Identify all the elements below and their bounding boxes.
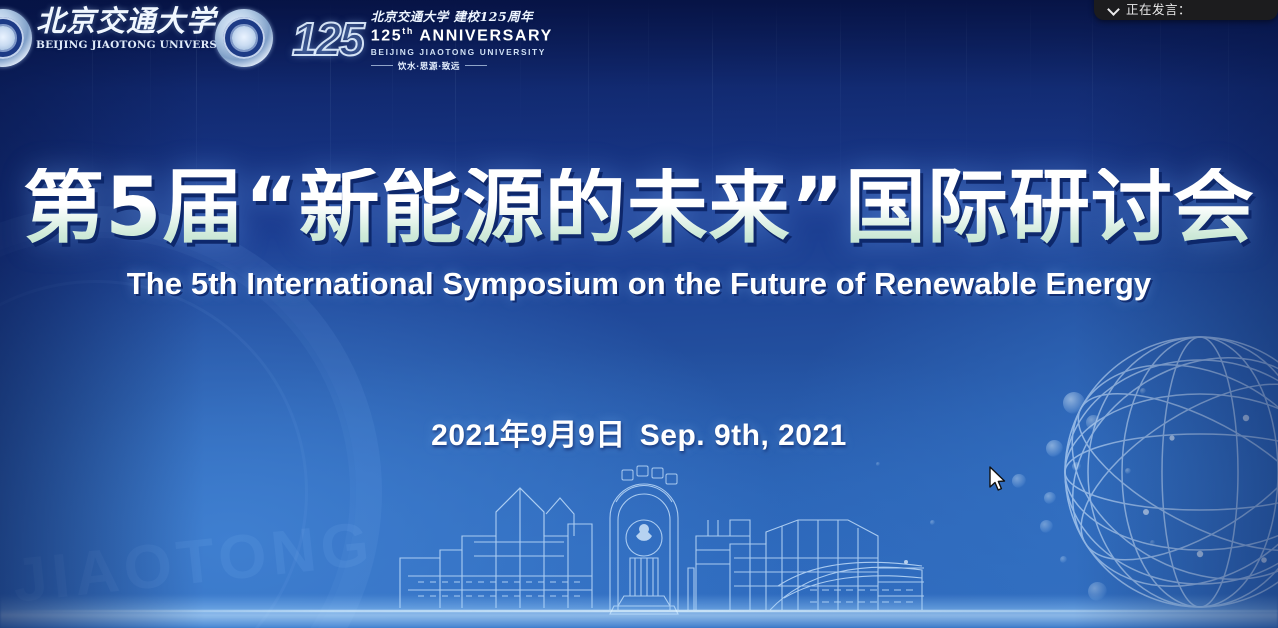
screen-share-stage: JIAOTONG: [0, 0, 1278, 628]
active-speaker-bar[interactable]: 正在发言：: [1094, 0, 1278, 20]
anniversary-numeral: 125: [292, 16, 363, 62]
header-branding: 北京交通大学 BEIJING JIAOTONG UNIVERSITY 125 北…: [0, 0, 560, 78]
page-title: 第5届“新能源的未来”国际研讨会: [0, 168, 1278, 249]
anniversary-en-secondary: BEIJING JIAOTONG UNIVERSITY: [371, 47, 553, 57]
motto-rule-right: [465, 65, 487, 66]
page-subtitle: The 5th International Symposium on the F…: [0, 266, 1278, 302]
chevron-down-icon[interactable]: [1108, 3, 1120, 15]
university-name-cn: 北京交通大学: [36, 6, 214, 37]
university-name-en: BEIJING JIAOTONG UNIVERSITY: [36, 39, 214, 51]
anniversary-en-word: ANNIVERSARY: [414, 28, 553, 45]
event-date: 2021年9月9日Sep. 9th, 2021: [0, 410, 1278, 454]
motto-text: 饮水·思源·致远: [398, 60, 460, 72]
university-seal-icon: [0, 9, 32, 67]
anniversary-motto: 饮水·思源·致远: [371, 60, 553, 72]
motto-rule-left: [371, 65, 393, 66]
event-date-en: Sep. 9th, 2021: [640, 419, 847, 452]
university-seal-icon: [215, 9, 273, 67]
anniversary-cn: 北京交通大学 建校125周年: [371, 6, 553, 25]
anniversary-en-ordinal: th: [402, 26, 414, 36]
active-speaker-label: 正在发言：: [1126, 3, 1191, 18]
anniversary-logo: 125 北京交通大学 建校125周年 125th ANNIVERSARY BEI…: [292, 8, 510, 70]
background-vignette: [0, 0, 1278, 628]
anniversary-text: 北京交通大学 建校125周年 125th ANNIVERSARY BEIJING…: [371, 6, 553, 71]
anniversary-en-number: 125: [371, 28, 403, 45]
event-date-cn: 2021年9月9日: [431, 419, 626, 452]
anniversary-en-primary: 125th ANNIVERSARY: [371, 26, 553, 45]
university-name: 北京交通大学 BEIJING JIAOTONG UNIVERSITY: [36, 6, 214, 51]
